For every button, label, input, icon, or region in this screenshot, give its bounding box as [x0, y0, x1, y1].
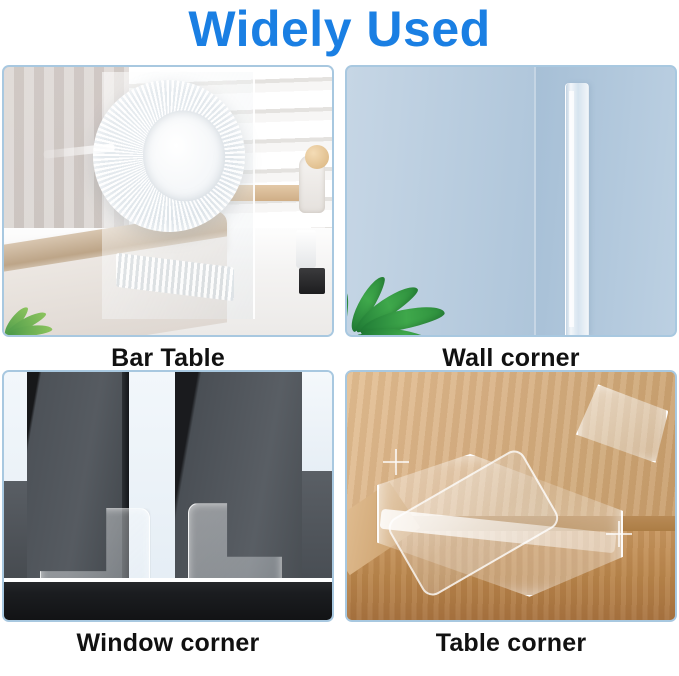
- photo-table-corner: [345, 370, 677, 622]
- use-case-card-window-corner: Window corner: [2, 370, 334, 658]
- dark-box-decor: [299, 268, 325, 294]
- page-title: Widely Used: [0, 0, 679, 60]
- window-panel-lower-right: [302, 471, 332, 590]
- green-plant: [345, 220, 490, 337]
- caption-bar-table: Bar Table: [2, 344, 334, 373]
- wall-corner-edge: [534, 67, 536, 335]
- caption-window-corner: Window corner: [2, 629, 334, 658]
- product-use-case-grid: Bar Table Wall corner: [0, 62, 679, 676]
- caption-table-corner: Table corner: [345, 629, 677, 658]
- caption-wall-corner: Wall corner: [345, 344, 677, 373]
- wall-face-right: [534, 67, 675, 335]
- window-sill: [4, 578, 332, 620]
- use-case-card-bar-table: Bar Table: [2, 65, 334, 373]
- photo-wall-corner: [345, 65, 677, 337]
- fern-plant: [2, 266, 79, 337]
- photo-bar-table: [2, 65, 334, 337]
- sparkle-icon: [383, 449, 409, 475]
- use-case-card-table-corner: Table corner: [345, 370, 677, 658]
- bottle-decor: [296, 230, 316, 268]
- sparkle-icon: [606, 521, 632, 547]
- astronaut-figurine-head: [305, 145, 329, 169]
- corner-guard-strip-product: [565, 83, 589, 335]
- photo-window-corner: [2, 370, 334, 622]
- window-panel-upper-right: [302, 372, 332, 476]
- use-case-card-wall-corner: Wall corner: [345, 65, 677, 373]
